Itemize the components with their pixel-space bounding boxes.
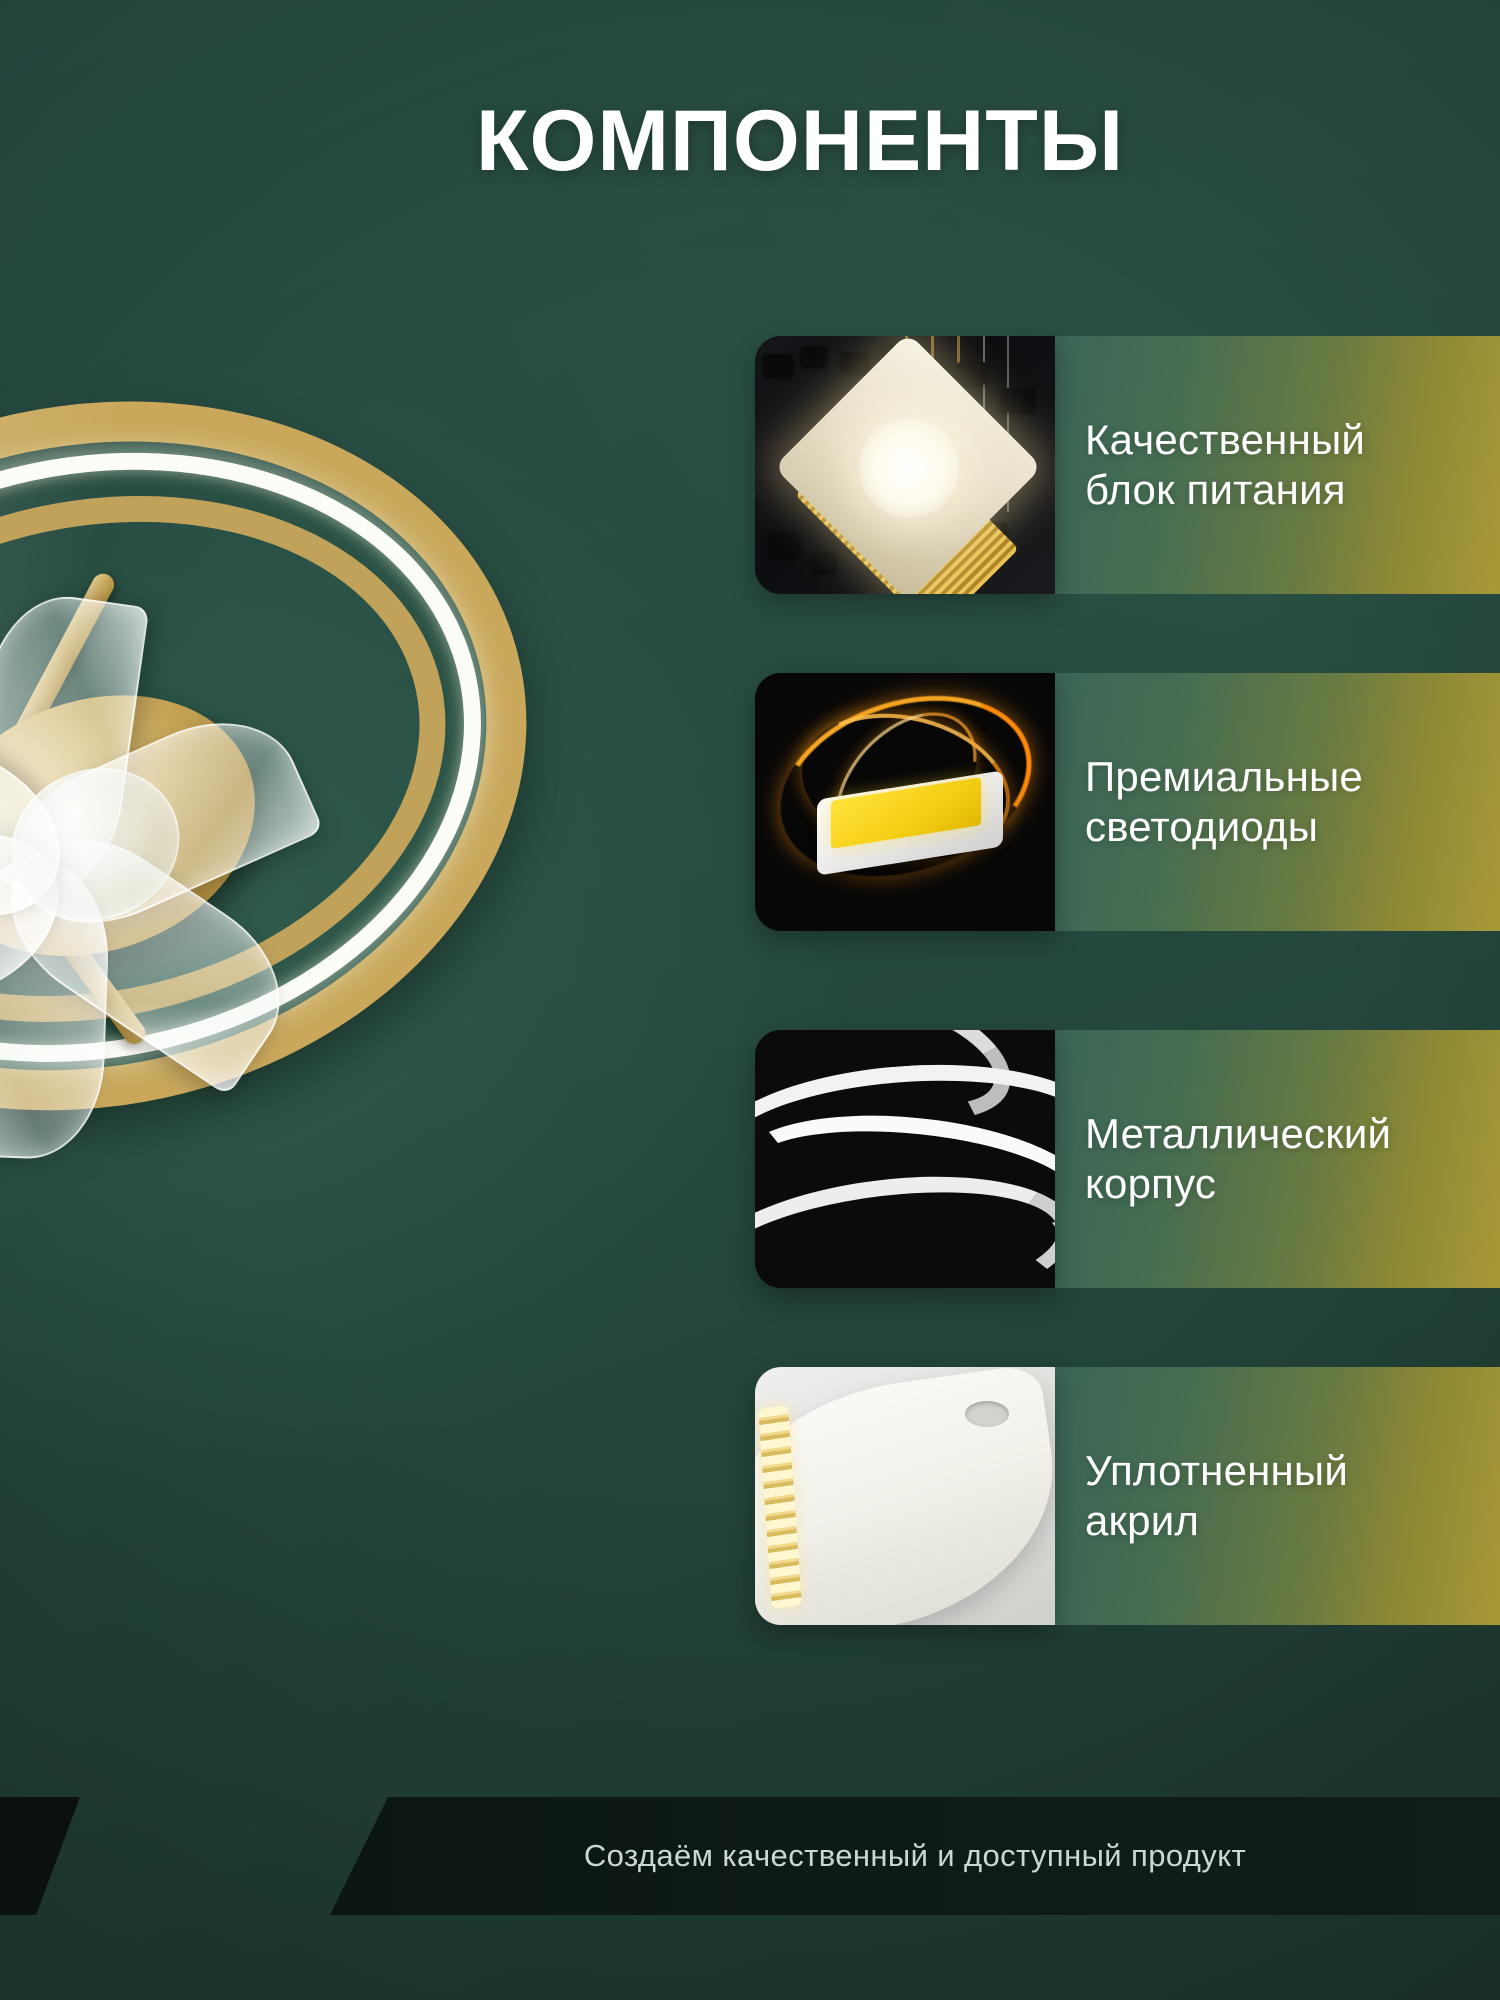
feature-label-line2: корпус (1085, 1159, 1391, 1209)
feature-label-panel: Металлический корпус (1055, 1030, 1500, 1288)
feature-label-line1: Премиальные (1085, 752, 1363, 802)
feature-label-line1: Уплотненный (1085, 1446, 1348, 1496)
feature-label-line2: акрил (1085, 1496, 1348, 1546)
footer-tagline: Создаём качественный и доступный продукт (330, 1797, 1500, 1915)
footer: Создаём качественный и доступный продукт (0, 1780, 1500, 1940)
feature-label: Премиальные светодиоды (1085, 752, 1363, 853)
feature-label-panel: Премиальные светодиоды (1055, 673, 1500, 931)
feature-label-panel: Качественный блок питания (1055, 336, 1500, 594)
feature-row-metal-body[interactable]: Металлический корпус (755, 1030, 1500, 1288)
feature-row-dense-acrylic[interactable]: Уплотненный акрил (755, 1367, 1500, 1625)
feature-label: Металлический корпус (1085, 1109, 1391, 1210)
feature-label-line2: светодиоды (1085, 802, 1363, 852)
led-diode-photo (755, 673, 1055, 931)
power-supply-chip-photo (755, 336, 1055, 594)
feature-row-power-supply[interactable]: Качественный блок питания (755, 336, 1500, 594)
metal-body-photo (755, 1030, 1055, 1288)
footer-accent-shape (0, 1797, 140, 1915)
feature-label: Качественный блок питания (1085, 415, 1365, 516)
feature-label-line2: блок питания (1085, 465, 1365, 515)
feature-row-premium-leds[interactable]: Премиальные светодиоды (755, 673, 1500, 931)
acrylic-diffuser-photo (755, 1367, 1055, 1625)
feature-label-line1: Качественный (1085, 415, 1365, 465)
feature-label-line1: Металлический (1085, 1109, 1391, 1159)
feature-label: Уплотненный акрил (1085, 1446, 1348, 1547)
feature-label-panel: Уплотненный акрил (1055, 1367, 1500, 1625)
page-title: КОМПОНЕНТЫ (0, 92, 1500, 191)
